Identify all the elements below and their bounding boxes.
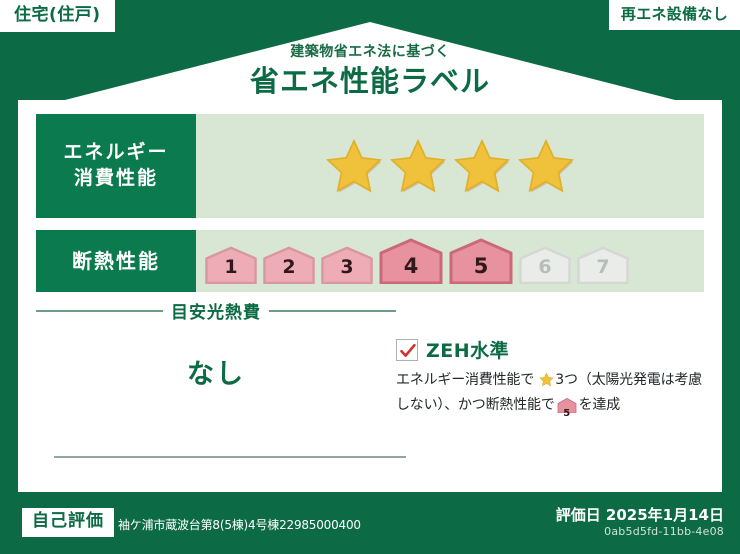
- energy-label-line1: エネルギー: [63, 140, 168, 166]
- insulation-performance-body: 1234567: [196, 230, 704, 292]
- cost-section-divider: [54, 456, 406, 458]
- insulation-grade-2: 2: [262, 246, 316, 284]
- label-footer: 自己評価 袖ケ浦市蔵波台第8(5棟)4号棟22985000400 評価日 202…: [0, 492, 740, 554]
- energy-performance-row: エネルギー 消費性能: [36, 114, 704, 218]
- energy-performance-label: エネルギー 消費性能: [36, 114, 196, 218]
- assessment-type-badge: 自己評価: [22, 508, 114, 537]
- zeh-desc-part3: を達成: [579, 397, 620, 413]
- title-block: 建築物省エネ法に基づく 省エネ性能ラベル: [0, 44, 740, 99]
- insulation-grade-number: 2: [262, 258, 316, 277]
- insulation-grade-5: 5: [448, 238, 514, 284]
- insulation-grade-3: 3: [320, 246, 374, 284]
- insulation-grade-4: 4: [378, 238, 444, 284]
- insulation-grade-7: 7: [576, 246, 630, 284]
- zeh-description: エネルギー消費性能で 3つ（太陽光発電は考慮しない）、かつ断熱性能で 5を達成: [396, 370, 706, 420]
- insulation-grade-number: 3: [320, 258, 374, 277]
- star-icon: [389, 137, 447, 195]
- evaluation-id: 0ab5d5fd-11bb-4e08: [604, 525, 724, 538]
- property-address: 袖ケ浦市蔵波台第8(5棟)4号棟22985000400: [118, 516, 361, 533]
- insulation-grade-scale: 1234567: [204, 238, 630, 284]
- insulation-grade-number: 5: [448, 256, 514, 277]
- energy-performance-body: [196, 114, 704, 218]
- insulation-grade-6: 6: [518, 246, 572, 284]
- insulation-grade-number: 6: [518, 258, 572, 277]
- inline-grade-number: 5: [557, 409, 577, 419]
- renewable-energy-badge: 再エネ設備なし: [609, 0, 740, 30]
- utility-cost-header: 目安光熱費: [36, 298, 396, 323]
- label-header: 住宅(住戸) 再エネ設備なし 建築物省エネ法に基づく 省エネ性能ラベル: [0, 0, 740, 110]
- inline-grade-badge: 5: [557, 398, 577, 421]
- housing-type-badge: 住宅(住戸): [0, 0, 115, 32]
- cost-rule-left: [36, 310, 163, 312]
- utility-cost-value: なし: [36, 352, 396, 391]
- insulation-grade-number: 1: [204, 258, 258, 277]
- utility-cost-title: 目安光熱費: [171, 298, 261, 323]
- energy-label-line2: 消費性能: [74, 166, 158, 192]
- zeh-header: ZEH水準: [396, 336, 706, 363]
- energy-performance-label: 住宅(住戸) 再エネ設備なし 建築物省エネ法に基づく 省エネ性能ラベル エネルギ…: [0, 0, 740, 554]
- zeh-title: ZEH水準: [426, 336, 509, 363]
- cost-rule-right: [269, 310, 396, 312]
- insulation-grade-number: 7: [576, 258, 630, 277]
- label-card: エネルギー 消費性能 断熱性能 1234567 目安光熱費 なし: [18, 100, 722, 492]
- zeh-standard-block: ZEH水準 エネルギー消費性能で 3つ（太陽光発電は考慮しない）、かつ断熱性能で…: [396, 336, 706, 420]
- title-subtitle: 建築物省エネ法に基づく: [0, 44, 740, 61]
- zeh-desc-part1: エネルギー消費性能で: [396, 372, 534, 388]
- star-icon: [535, 375, 554, 391]
- star-icon: [325, 137, 383, 195]
- evaluation-date: 評価日 2025年1月14日: [556, 504, 724, 525]
- check-icon: [399, 342, 417, 360]
- page-title: 省エネ性能ラベル: [0, 63, 740, 99]
- star-rating: [325, 137, 575, 195]
- insulation-performance-row: 断熱性能 1234567: [36, 230, 704, 292]
- insulation-grade-number: 4: [378, 256, 444, 277]
- insulation-performance-label: 断熱性能: [36, 230, 196, 292]
- star-icon: [517, 137, 575, 195]
- zeh-checkbox[interactable]: [396, 339, 418, 361]
- insulation-grade-1: 1: [204, 246, 258, 284]
- star-icon: [453, 137, 511, 195]
